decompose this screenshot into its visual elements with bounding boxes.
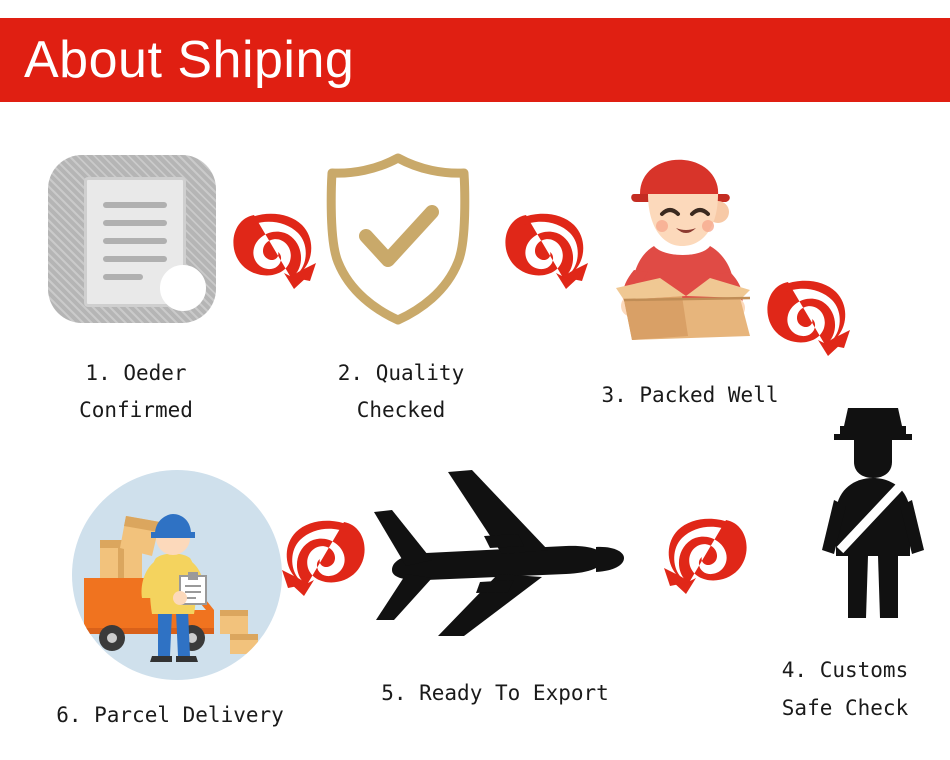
step-5-label-line1: 5. Ready To Export [330,678,660,708]
step-3-label-line1: 3. Packed Well [565,380,815,410]
document-line [103,256,167,262]
step-4-label-line1: 4. Customs [740,655,950,685]
document-line [103,202,167,208]
step-1-label-line1: 1. Oeder [48,358,224,388]
document-line [103,220,167,226]
page-title: About Shiping [0,34,354,86]
document-line [103,274,143,280]
arrow-5-6-swirl-arrow-left-icon [278,512,370,603]
step-2-shield-check-icon [318,152,478,327]
step-4-label-line2: Safe Check [740,693,950,723]
step-2-label-line1: 2. Quality [313,358,489,388]
step-5-airplane-icon [352,450,642,640]
step-1-document-check-icon [48,155,216,323]
header-banner: About Shiping [0,18,950,102]
arrow-4-5-swirl-arrow-left-icon [660,510,752,601]
step-6-label-line1: 6. Parcel Delivery [20,700,320,730]
document-checkmark-badge-icon [160,265,206,311]
step-4-customs-officer-icon [818,400,928,625]
step-6-delivery-truck-courier-icon [72,470,282,680]
arrow-1-2-swirl-arrow-right-icon [228,205,320,296]
shipping-infographic: About Shiping 1. Oeder Confirmed [0,0,950,760]
step-2-label-line2: Checked [313,395,489,425]
step-3-worker-packing-box-icon [600,150,780,350]
step-1-label-line2: Confirmed [48,395,224,425]
document-line [103,238,167,244]
arrow-2-3-swirl-arrow-right-icon [500,205,592,296]
arrow-3-4-swirl-arrow-right-icon [762,272,854,363]
